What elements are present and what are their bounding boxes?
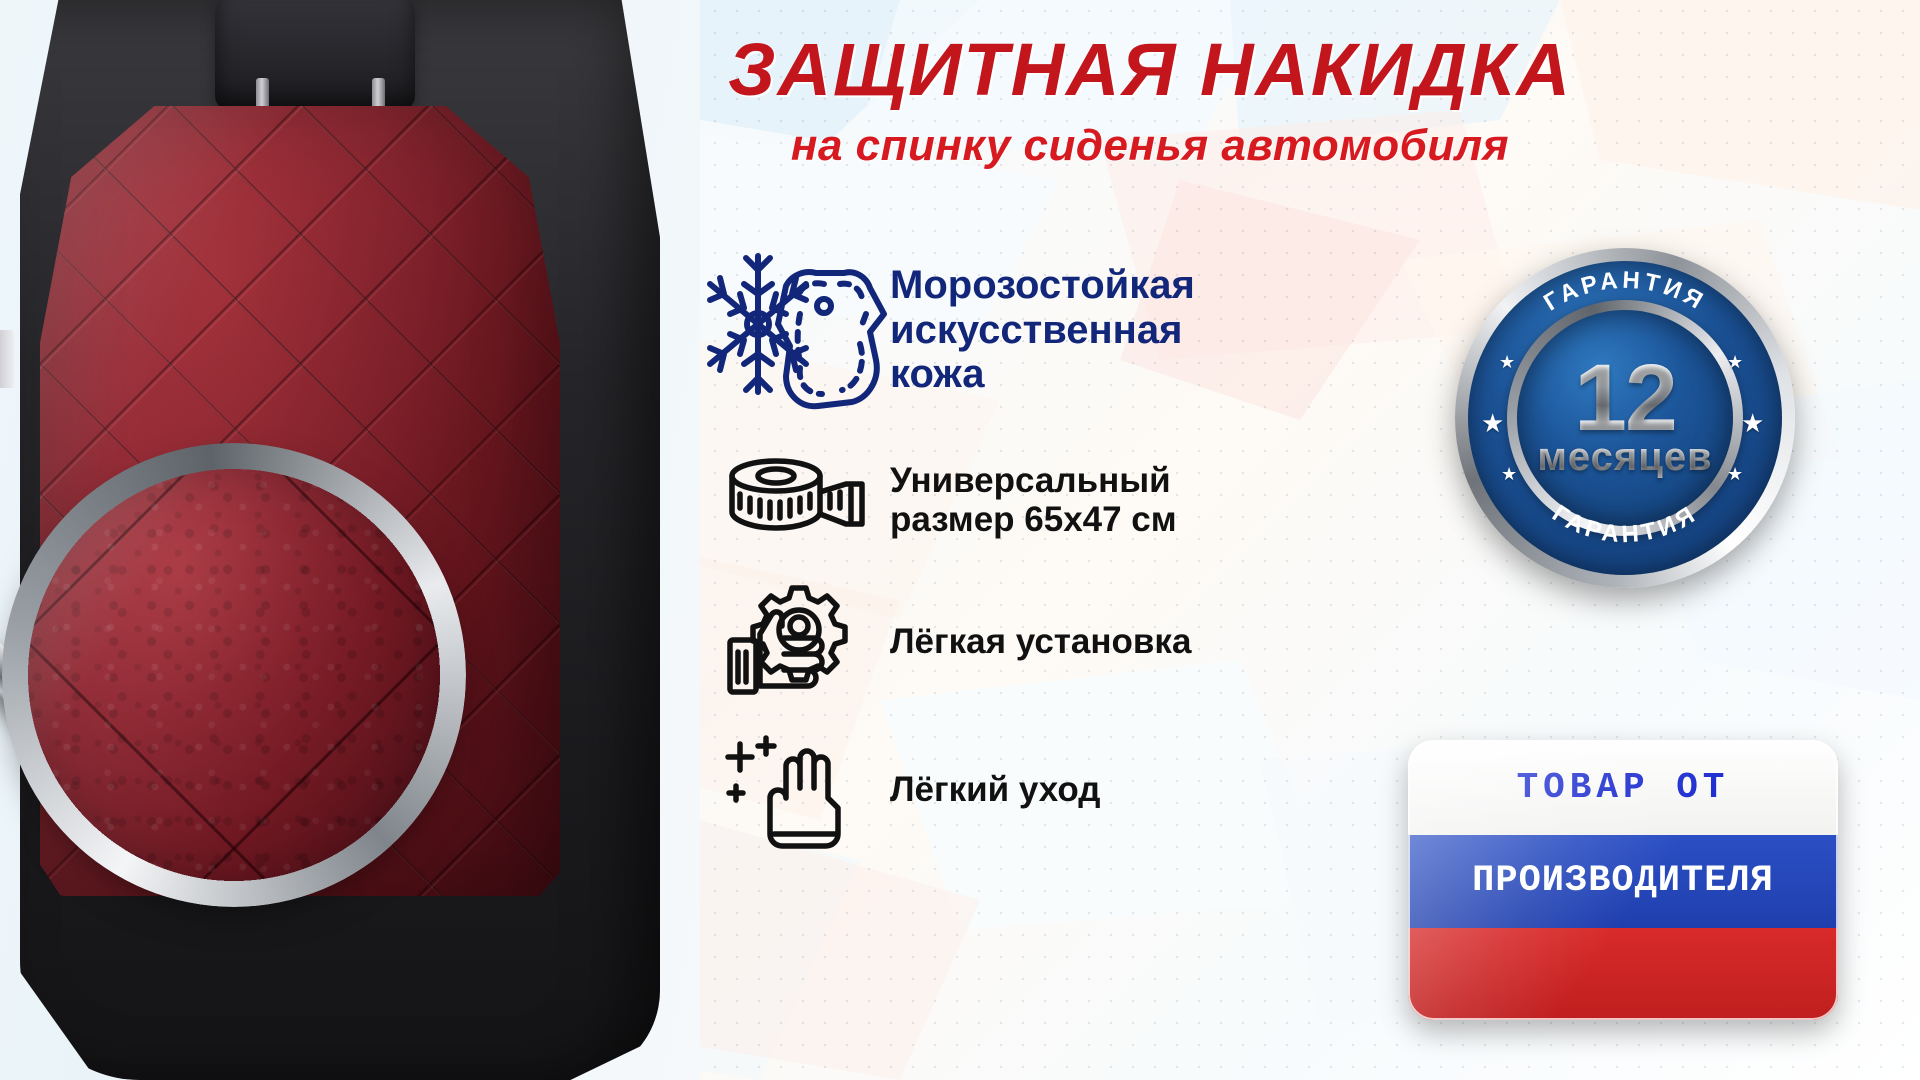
cleaning-glove-icon — [700, 730, 890, 850]
feature-label-care: Лёгкий уход — [890, 770, 1101, 809]
sparkle-large — [728, 744, 752, 770]
feature-item-leather: Морозостойкая искусственная кожа — [700, 240, 1330, 420]
feature-label-leather: Морозостойкая искусственная кожа — [890, 263, 1195, 397]
feature-line: искусственная — [890, 308, 1195, 353]
badge-star-upper-right: ★ — [1727, 352, 1743, 373]
feature-item-size: Универсальный размер 65x47 см — [700, 454, 1330, 546]
snowflake-leather-icon — [700, 240, 890, 420]
feature-line: размер 65x47 см — [890, 500, 1177, 539]
made-by-line2: ПРОИЗВОДИТЕЛЯ — [1472, 860, 1774, 902]
cover-label-tag — [0, 330, 14, 388]
headrest — [215, 0, 415, 110]
measuring-tape-icon — [700, 454, 890, 546]
feature-item-install: Лёгкая установка — [700, 582, 1330, 702]
sparkle-tiny — [729, 786, 743, 800]
guarantee-number: 12 — [1574, 356, 1676, 442]
sparkle-small — [758, 738, 774, 754]
feature-line: Универсальный — [890, 461, 1177, 500]
product-photo — [0, 0, 700, 1080]
flag-stripe-red — [1408, 928, 1838, 1020]
badge-star-upper-left: ★ — [1499, 352, 1515, 373]
badge-star-left: ★ — [1481, 408, 1504, 439]
feature-label-size: Универсальный размер 65x47 см — [890, 461, 1177, 539]
headline-block: ЗАЩИТНАЯ НАКИДКА на спинку сиденья автом… — [700, 34, 1600, 171]
magnifier-rim — [2, 443, 466, 907]
feature-item-care: Лёгкий уход — [700, 730, 1330, 850]
poster-canvas: ЗАЩИТНАЯ НАКИДКА на спинку сиденья автом… — [0, 0, 1920, 1080]
flag-stripe-white: ТОВАР ОТ — [1408, 740, 1838, 835]
page-title: ЗАЩИТНАЯ НАКИДКА — [700, 34, 1600, 107]
magnifying-glass — [14, 455, 454, 895]
badge-star-lower-left: ★ — [1501, 464, 1517, 485]
page-subtitle: на спинку сиденья автомобиля — [700, 121, 1600, 171]
feature-line: кожа — [890, 352, 1195, 397]
badge-star-right: ★ — [1741, 408, 1764, 439]
made-by-manufacturer-badge: ТОВАР ОТ ПРОИЗВОДИТЕЛЯ — [1408, 740, 1838, 1020]
badge-face: 12 месяцев — [1517, 310, 1733, 526]
gear-hand-icon — [700, 582, 890, 702]
guarantee-period: месяцев — [1537, 435, 1712, 480]
feature-list: Морозостойкая искусственная кожа Унив — [700, 240, 1330, 864]
feature-label-install: Лёгкая установка — [890, 622, 1191, 661]
guarantee-badge: 12 месяцев ГАРАНТИЯ ГАРАНТИЯ ★ ★ ★ ★ ★ ★ — [1455, 248, 1795, 588]
made-by-line1: ТОВАР ОТ — [1517, 767, 1730, 808]
feature-line: Морозостойкая — [890, 263, 1195, 308]
flag-stripe-blue: ПРОИЗВОДИТЕЛЯ — [1408, 835, 1838, 927]
badge-star-lower-right: ★ — [1727, 464, 1743, 485]
